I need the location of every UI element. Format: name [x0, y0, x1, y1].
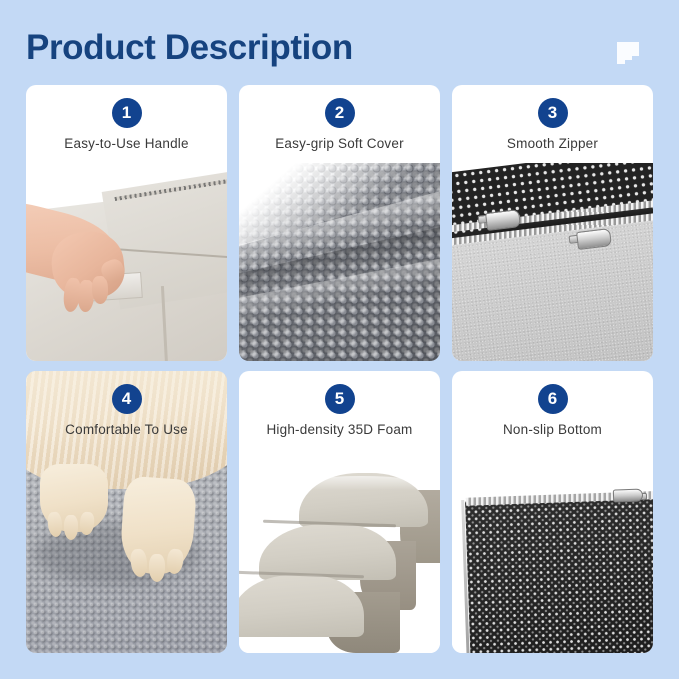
card-2-badge: 2	[325, 98, 355, 128]
feature-card-5[interactable]: 5 High-density 35D Foam	[239, 371, 440, 653]
feature-card-4[interactable]: 4 Comfortable To Use	[26, 371, 227, 653]
card-4-label: Comfortable To Use	[26, 422, 227, 437]
feature-card-3[interactable]: 3 Smooth Zipper	[452, 85, 653, 361]
card-1-badge: 1	[112, 98, 142, 128]
card-5-label: High-density 35D Foam	[239, 422, 440, 437]
card-5-header: 5 High-density 35D Foam	[239, 371, 440, 437]
card-1-photo	[26, 163, 227, 361]
card-2-photo	[239, 163, 440, 361]
card-2-header: 2 Easy-grip Soft Cover	[239, 85, 440, 151]
feature-card-6[interactable]: 6 Non-slip Bottom	[452, 371, 653, 653]
card-5-photo	[239, 449, 440, 653]
card-6-label: Non-slip Bottom	[452, 422, 653, 437]
card-6-photo	[452, 449, 653, 653]
stairs-icon	[615, 41, 643, 65]
card-4-badge: 4	[112, 384, 142, 414]
card-1-header: 1 Easy-to-Use Handle	[26, 85, 227, 151]
page-title: Product Description	[26, 26, 353, 70]
card-4-header: 4 Comfortable To Use	[26, 371, 227, 437]
card-2-label: Easy-grip Soft Cover	[239, 136, 440, 151]
card-3-header: 3 Smooth Zipper	[452, 85, 653, 151]
card-3-label: Smooth Zipper	[452, 136, 653, 151]
card-1-label: Easy-to-Use Handle	[26, 136, 227, 151]
card-3-badge: 3	[538, 98, 568, 128]
card-6-header: 6 Non-slip Bottom	[452, 371, 653, 437]
product-description-infographic: Product Description 1 Easy-t	[0, 0, 679, 679]
feature-card-1[interactable]: 1 Easy-to-Use Handle	[26, 85, 227, 361]
feature-card-2[interactable]: 2 Easy-grip Soft Cover	[239, 85, 440, 361]
card-5-badge: 5	[325, 384, 355, 414]
card-6-badge: 6	[538, 384, 568, 414]
feature-card-grid: 1 Easy-to-Use Handle 2 Easy-grip Soft Co…	[26, 85, 653, 653]
card-3-photo	[452, 163, 653, 361]
